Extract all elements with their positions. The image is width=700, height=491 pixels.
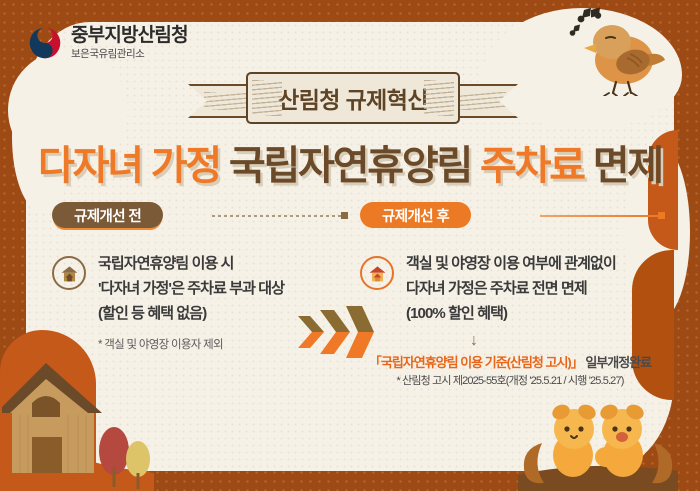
- after-body: 객실 및 야영장 이용 여부에 관계없이 다자녀 가정은 주차료 전면 면제 (…: [360, 252, 660, 326]
- ribbon-label: 산림청 규제혁신: [278, 81, 428, 115]
- org-sub-name: 보은국유림관리소: [71, 49, 188, 60]
- before-line-2: '다자녀 가정'은 주차료 부과 대상: [98, 277, 284, 302]
- before-text-block: 국립자연휴양림 이용 시 '다자녀 가정'은 주차료 부과 대상 (할인 등 혜…: [98, 252, 284, 326]
- title-part-4: 면제: [593, 144, 662, 188]
- squirrel-pair-icon: [518, 389, 678, 491]
- page-title: 다자녀 가정 국립자연휴양림 주차료 면제: [0, 133, 700, 191]
- after-footer-tail: 일부개정완료: [583, 355, 651, 370]
- title-part-3: 주차료: [480, 144, 584, 188]
- after-line-2: 다자녀 가정은 주차료 전면 면제: [406, 277, 616, 302]
- before-line-3: (할인 등 혜택 없음): [98, 302, 284, 327]
- after-line-3: (100% 할인 혜택): [406, 302, 616, 327]
- after-text-block: 객실 및 야영장 이용 여부에 관계없이 다자녀 가정은 주차료 전면 면제 (…: [406, 252, 616, 326]
- before-connector-line: [212, 215, 342, 217]
- ribbon-hatch-left: [252, 80, 282, 116]
- after-connector-line: [540, 215, 660, 217]
- down-arrow-icon: ↓: [470, 332, 478, 350]
- after-column: 규제개선 후 객실 및 야영장 이용 여부에 관계없이 다자녀 가정은 주차료 …: [360, 202, 660, 326]
- after-footer-highlight: 「국립자연휴양림 이용 기준(산림청 고시)」 일부개정완료: [360, 352, 660, 371]
- after-footer-fineprint: * 산림청 고시 제2025-55호(개정 '25.5.21 / 시행 '25.…: [355, 372, 665, 388]
- after-connector-dot: [658, 212, 665, 219]
- taegeuk-icon: [28, 26, 62, 60]
- after-pill-label: 규제개선 후: [360, 202, 471, 228]
- after-footer-notice: 「국립자연휴양림 이용 기준(산림청 고시)」: [369, 355, 583, 370]
- title-part-2: 국립자연휴양림: [229, 144, 471, 188]
- before-line-1: 국립자연휴양림 이용 시: [98, 252, 284, 277]
- org-logo: 중부지방산림청 보은국유림관리소: [28, 26, 188, 60]
- ribbon-banner: 산림청 규제혁신: [188, 72, 518, 124]
- ribbon-hatch-right: [424, 80, 454, 116]
- title-part-1: 다자녀 가정: [38, 144, 220, 188]
- singing-bird-icon: [540, 4, 666, 96]
- wooden-cabin-icon: [2, 355, 154, 491]
- org-name: 중부지방산림청: [71, 26, 188, 46]
- house-circle-icon: [360, 256, 394, 290]
- ribbon-center: 산림청 규제혁신: [246, 72, 460, 124]
- before-connector-dot: [341, 212, 348, 219]
- poster-root: 중부지방산림청 보은국유림관리소 산림청 규제혁신 다자녀 가정 국립자연휴양림…: [0, 0, 700, 491]
- before-pill-label: 규제개선 전: [52, 202, 163, 228]
- house-circle-icon: [52, 256, 86, 290]
- after-line-1: 객실 및 야영장 이용 여부에 관계없이: [406, 252, 616, 277]
